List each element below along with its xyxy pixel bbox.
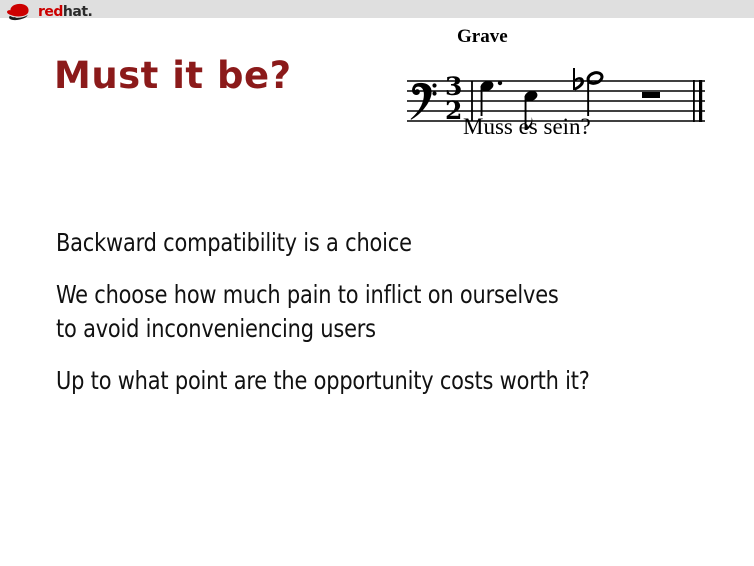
slide-body: Backward compatibility is a choice We ch…: [56, 226, 716, 398]
flat-sign-icon: [573, 68, 584, 91]
lyric-text: Muss es sein?: [463, 114, 591, 140]
music-notation-figure: Grave 3 2: [405, 26, 715, 146]
tempo-marking: Grave: [457, 26, 508, 48]
logo-word-red: red: [38, 4, 63, 20]
body-paragraph-1: Backward compatibility is a choice: [56, 226, 670, 261]
time-signature: 3 2: [445, 72, 462, 125]
half-note: [587, 71, 604, 116]
slide-canvas: redhat. Must it be? Grave 3 2: [0, 0, 754, 566]
logo-word-dot: .: [88, 4, 93, 20]
logo-word-hat: hat: [63, 4, 88, 20]
redhat-wordmark: redhat.: [38, 5, 92, 19]
time-signature-denominator: 2: [445, 96, 462, 125]
augmentation-dot: [498, 81, 502, 85]
body-paragraph-2: We choose how much pain to inflict on ou…: [56, 278, 670, 347]
body-paragraph-3: Up to what point are the opportunity cos…: [56, 364, 670, 399]
redhat-shadowman-icon: [5, 2, 35, 22]
half-rest: [642, 92, 660, 98]
page-title: Must it be?: [54, 54, 292, 97]
redhat-logo: redhat.: [5, 1, 120, 23]
